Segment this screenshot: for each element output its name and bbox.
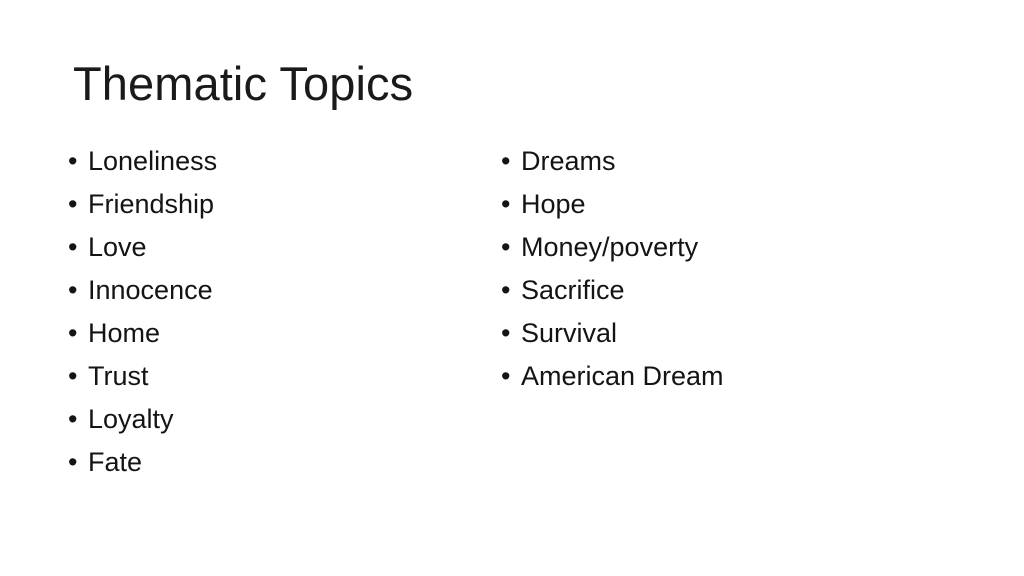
list-item-label: Innocence bbox=[88, 269, 213, 312]
list-item-label: Loneliness bbox=[88, 140, 217, 183]
list-item[interactable]: • Loyalty bbox=[68, 398, 478, 441]
bullet-icon: • bbox=[68, 312, 88, 355]
page-title: Thematic Topics bbox=[73, 55, 953, 113]
bullet-icon: • bbox=[68, 269, 88, 312]
list-item[interactable]: • Trust bbox=[68, 355, 478, 398]
bullet-icon: • bbox=[501, 355, 521, 398]
list-item-label: Survival bbox=[521, 312, 617, 355]
bullet-icon: • bbox=[501, 140, 521, 183]
list-item[interactable]: • Love bbox=[68, 226, 478, 269]
list-item-label: American Dream bbox=[521, 355, 724, 398]
list-item[interactable]: • Friendship bbox=[68, 183, 478, 226]
bullet-icon: • bbox=[68, 183, 88, 226]
list-item-label: Dreams bbox=[521, 140, 616, 183]
left-column: • Loneliness • Friendship • Love • Innoc… bbox=[68, 140, 478, 484]
list-item-label: Hope bbox=[521, 183, 586, 226]
list-item-label: Fate bbox=[88, 441, 142, 484]
bullet-icon: • bbox=[501, 269, 521, 312]
list-item-label: Friendship bbox=[88, 183, 214, 226]
right-column: • Dreams • Hope • Money/poverty • Sacrif… bbox=[501, 140, 961, 398]
bullet-icon: • bbox=[501, 226, 521, 269]
list-item[interactable]: • Hope bbox=[501, 183, 961, 226]
list-item-label: Love bbox=[88, 226, 147, 269]
bullet-icon: • bbox=[501, 183, 521, 226]
bullet-icon: • bbox=[68, 441, 88, 484]
list-item[interactable]: • Innocence bbox=[68, 269, 478, 312]
list-item[interactable]: • American Dream bbox=[501, 355, 961, 398]
list-item[interactable]: • Loneliness bbox=[68, 140, 478, 183]
bullet-icon: • bbox=[68, 355, 88, 398]
list-item[interactable]: • Dreams bbox=[501, 140, 961, 183]
left-column-list: • Loneliness • Friendship • Love • Innoc… bbox=[68, 140, 478, 484]
right-column-list: • Dreams • Hope • Money/poverty • Sacrif… bbox=[501, 140, 961, 398]
presentation-slide: Thematic Topics • Loneliness • Friendshi… bbox=[0, 0, 1024, 576]
bullet-icon: • bbox=[68, 226, 88, 269]
list-item-label: Home bbox=[88, 312, 160, 355]
list-item[interactable]: • Sacrifice bbox=[501, 269, 961, 312]
list-item[interactable]: • Home bbox=[68, 312, 478, 355]
list-item[interactable]: • Survival bbox=[501, 312, 961, 355]
list-item-label: Sacrifice bbox=[521, 269, 625, 312]
bullet-icon: • bbox=[68, 398, 88, 441]
bullet-icon: • bbox=[68, 140, 88, 183]
list-item[interactable]: • Money/poverty bbox=[501, 226, 961, 269]
slide-body: • Loneliness • Friendship • Love • Innoc… bbox=[0, 140, 1024, 500]
list-item[interactable]: • Fate bbox=[68, 441, 478, 484]
bullet-icon: • bbox=[501, 312, 521, 355]
list-item-label: Loyalty bbox=[88, 398, 174, 441]
list-item-label: Trust bbox=[88, 355, 149, 398]
list-item-label: Money/poverty bbox=[521, 226, 698, 269]
